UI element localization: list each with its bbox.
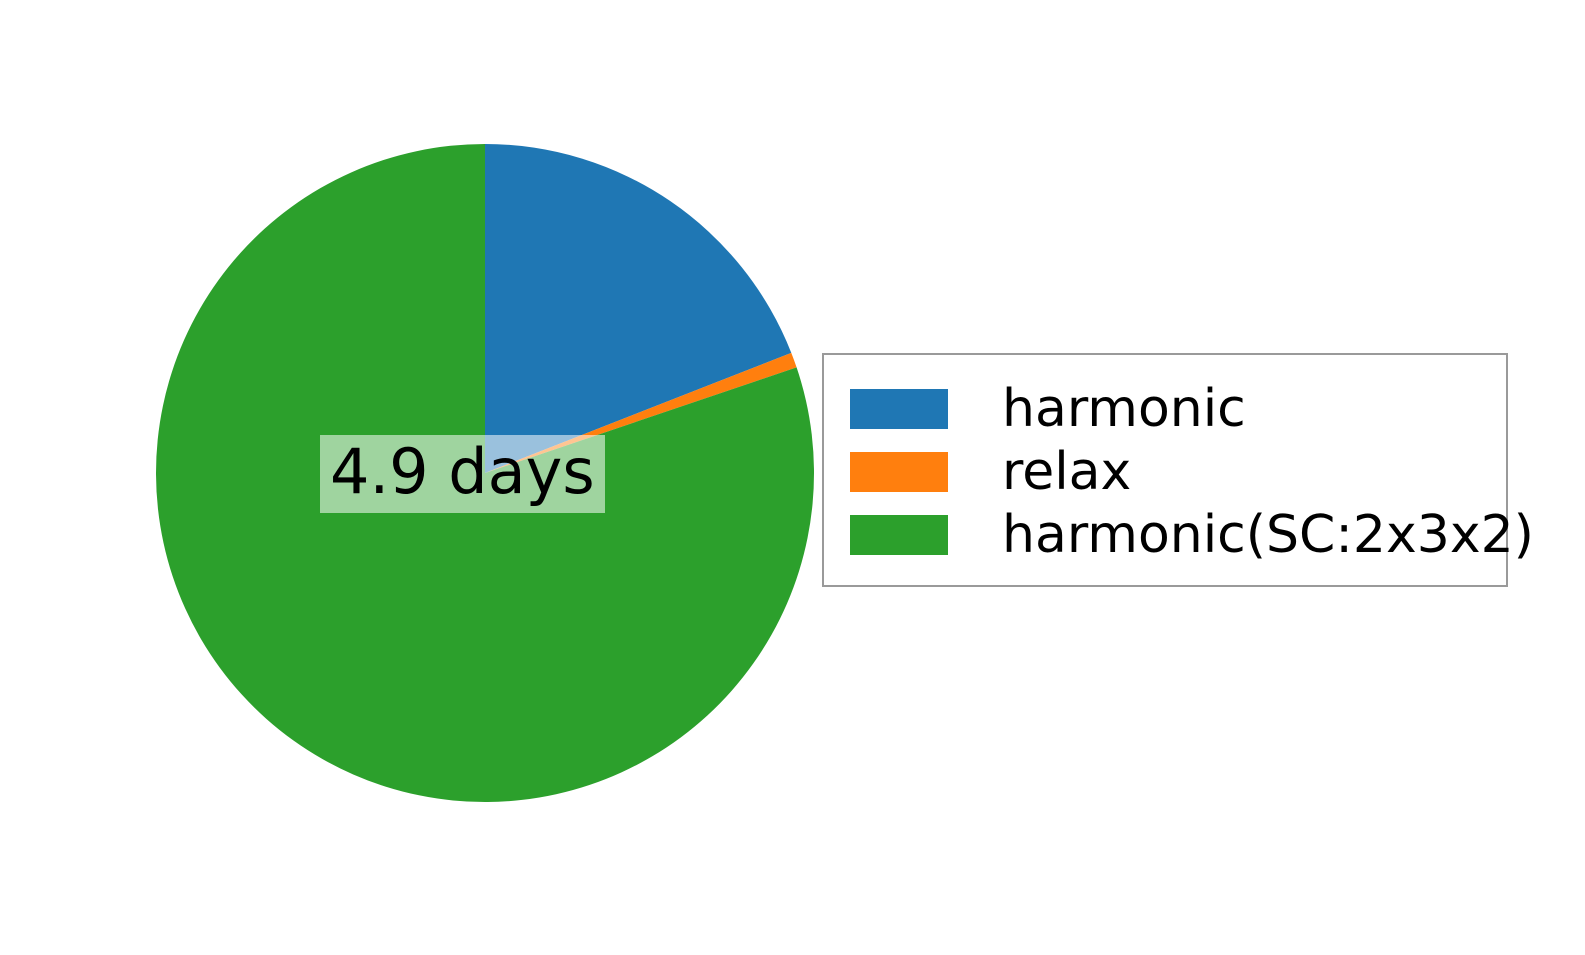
legend-item-harmonic[interactable]: harmonic bbox=[824, 377, 1506, 440]
legend-label-harmonic-sc: harmonic(SC:2x3x2) bbox=[1002, 509, 1534, 561]
legend-label-relax: relax bbox=[1002, 446, 1131, 498]
legend-swatch-relax bbox=[850, 452, 948, 492]
legend-item-relax[interactable]: relax bbox=[824, 440, 1506, 503]
pie-center-label: 4.9 days bbox=[320, 435, 605, 513]
legend-label-harmonic: harmonic bbox=[1002, 383, 1246, 435]
figure-canvas: 4.9 days harmonic relax harmonic(SC:2x3x… bbox=[0, 0, 1585, 951]
legend-box: harmonic relax harmonic(SC:2x3x2) bbox=[822, 353, 1508, 587]
legend-swatch-harmonic bbox=[850, 389, 948, 429]
legend-item-harmonic-sc[interactable]: harmonic(SC:2x3x2) bbox=[824, 503, 1506, 566]
legend-swatch-harmonic-sc bbox=[850, 515, 948, 555]
